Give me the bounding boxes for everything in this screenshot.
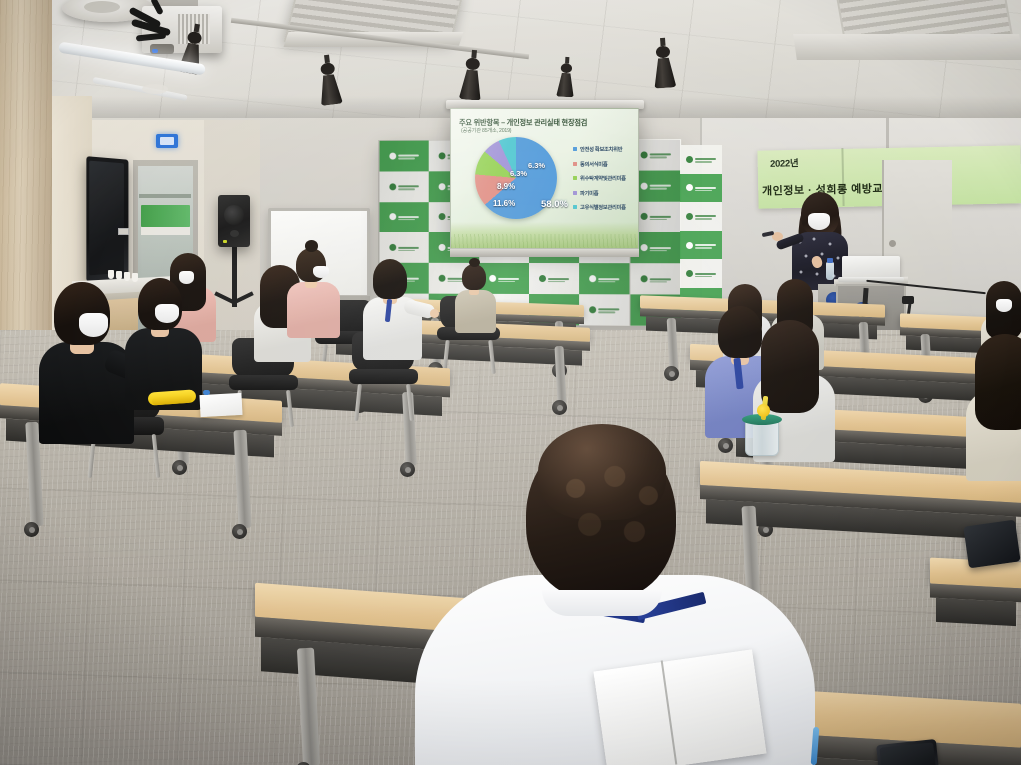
legend-label: 위수탁계약및관리미흡: [580, 174, 626, 182]
legend-swatch-icon: [573, 162, 577, 166]
sponsor-logo-icon: [640, 243, 670, 253]
smartphone-screen: [879, 742, 936, 765]
legend-label: 동의서식미흡: [580, 160, 607, 168]
caster-icon: [718, 438, 733, 453]
speaker-woofer-icon: [224, 205, 244, 225]
face-mask-icon: [808, 213, 830, 230]
backdrop-tile: [680, 202, 722, 231]
caster-icon: [400, 462, 415, 477]
sponsor-logo-icon: [640, 181, 670, 191]
speaker-power-led-icon: [223, 240, 227, 243]
wall-monitor-screen: [89, 161, 124, 276]
ceiling-dome-fixture: [142, 84, 168, 94]
pie-chart: 58.0% 11.6% 8.9% 6.3% 6.3%: [475, 137, 557, 219]
wall-outlet-plate: [118, 228, 129, 235]
attendee-hair: [975, 334, 1021, 430]
projection-screen-weight-bar: [450, 249, 639, 257]
legend-label: 파기미흡: [580, 189, 598, 197]
legend-swatch-icon: [573, 191, 577, 195]
sponsor-logo-icon: [389, 212, 419, 222]
ceiling-panel-right: [793, 34, 1021, 60]
sponsor-logo-icon: [686, 269, 716, 279]
green-tumbler: [745, 420, 779, 456]
smoke-detector-center: [84, 1, 120, 13]
legend-item: 동의서식미흡: [573, 160, 639, 168]
backdrop-tile: [380, 202, 430, 233]
attendee-hair-bun: [305, 240, 319, 252]
projection-screen: 주요 위반항목 – 개인정보 관리실태 현장점검 (공공기관 85개소, 201…: [450, 108, 639, 249]
chair-seat: [229, 375, 298, 390]
pie-slice-label: 8.9%: [497, 182, 515, 191]
sponsor-logo-icon: [686, 183, 716, 193]
sponsor-logo-icon: [389, 243, 419, 253]
pie-slice-label: 58.0%: [541, 199, 568, 210]
backdrop-tile: [680, 231, 722, 260]
corridor-green-banner: [141, 205, 190, 227]
legend-swatch-icon: [573, 176, 577, 180]
seminar-room-photo: 주요 위반항목 – 개인정보 관리실태 현장점검 (공공기관 85개소, 201…: [0, 0, 1021, 765]
legend-label: 고유식별정보관리미흡: [580, 203, 626, 211]
sponsor-logo-icon: [640, 150, 670, 160]
pie-slice-label: 6.3%: [510, 169, 527, 178]
door-crossbar: [139, 194, 191, 198]
track-spotlight: [459, 49, 485, 101]
legend-item: 위수탁계약및관리미흡: [573, 174, 639, 182]
attendee-hair: [718, 306, 763, 358]
backdrop-tile: [680, 145, 722, 174]
legend-label: 안전성 확보조치위반: [580, 145, 622, 153]
pie-chart-legend: 안전성 확보조치위반 동의서식미흡 위수탁계약및관리미흡 파기미흡 고유식별정보…: [573, 145, 639, 218]
attendee-hair: [462, 264, 486, 290]
face-mask-icon: [155, 304, 179, 323]
backdrop-tile: [529, 263, 579, 294]
attendee-torso: [455, 290, 496, 333]
speaker-tweeter-icon: [230, 230, 239, 237]
sponsor-logo-icon: [539, 274, 569, 284]
pie-slice-label: 6.3%: [528, 161, 545, 170]
projector-led-icon: [152, 49, 158, 53]
caster-hub: [29, 527, 35, 533]
paper-cup: [108, 270, 114, 279]
caster-hub: [723, 443, 729, 449]
sponsor-logo-icon: [640, 274, 670, 284]
paper-cup: [124, 272, 130, 281]
sponsor-logo-icon: [686, 211, 716, 221]
caster-icon: [664, 366, 679, 381]
white-booklet: [199, 393, 242, 417]
chair-seat: [349, 369, 418, 384]
sponsor-logo-icon: [489, 273, 519, 283]
caster-hub: [669, 371, 675, 377]
attendee-hair-curl: [542, 450, 682, 570]
sponsor-logo-icon: [389, 182, 419, 192]
podium-plug: [902, 296, 914, 304]
small-blue-object: [203, 390, 210, 395]
legend-item: 고유식별정보관리미흡: [573, 203, 639, 211]
paper-cup: [116, 271, 122, 280]
door-knob-icon[interactable]: [889, 240, 896, 247]
paper-cup: [132, 273, 138, 282]
caster-hub: [237, 529, 243, 535]
legend-swatch-icon: [573, 205, 577, 209]
track-spotlight: [556, 57, 576, 98]
tumbler-character-icon: [757, 404, 770, 417]
backdrop-tile: [680, 259, 722, 288]
tablet[interactable]: [963, 520, 1020, 569]
backdrop-tile: [680, 174, 722, 203]
water-bottle: [826, 262, 834, 280]
face-mask-icon: [996, 299, 1012, 311]
legend-item: 안전성 확보조치위반: [573, 145, 639, 153]
attendee-hair-bun: [469, 258, 480, 267]
sponsor-logo-icon: [640, 212, 670, 222]
attendee-hair: [373, 259, 407, 299]
pie-slice-label: 11.6%: [493, 199, 515, 208]
laptop[interactable]: [842, 256, 900, 278]
sponsor-logo-icon: [686, 240, 716, 250]
sponsor-logo-icon: [389, 151, 419, 161]
desk-apron: [936, 598, 1016, 626]
caster-hub: [405, 467, 411, 473]
face-mask-icon: [313, 266, 329, 279]
shirt-collar: [542, 590, 662, 616]
bottle-cap: [827, 258, 833, 263]
exit-sign-glyph: [160, 137, 174, 145]
slide-grass-texture: [451, 234, 639, 248]
sponsor-backdrop-wall-right: [680, 145, 722, 317]
banner-year: 2022년: [770, 154, 850, 170]
backdrop-tile: [579, 294, 630, 325]
legend-item: 파기미흡: [573, 189, 639, 197]
attendee-hair: [761, 320, 819, 413]
caster-icon: [552, 400, 567, 415]
sponsor-logo-icon: [589, 305, 619, 315]
caster-icon: [232, 524, 247, 539]
backdrop-tile: [579, 263, 630, 294]
sponsor-logo-icon: [589, 274, 619, 284]
sponsor-logo-icon: [686, 154, 716, 164]
attendee-torso: [287, 282, 340, 338]
legend-swatch-icon: [573, 147, 577, 151]
backdrop-tile: [380, 141, 430, 172]
face-mask-icon: [179, 271, 195, 283]
caster-icon: [172, 460, 187, 475]
caster-hub: [557, 405, 563, 411]
caster-icon: [24, 522, 39, 537]
face-mask-icon: [79, 313, 108, 336]
slide-subtitle: (공공기관 85개소, 2019): [461, 127, 511, 134]
caster-hub: [763, 527, 769, 533]
corridor-white-strip: [141, 227, 190, 235]
backdrop-tile: [380, 171, 430, 202]
track-spotlight: [651, 37, 676, 88]
backdrop-tile: [630, 263, 681, 294]
caster-hub: [177, 465, 183, 471]
